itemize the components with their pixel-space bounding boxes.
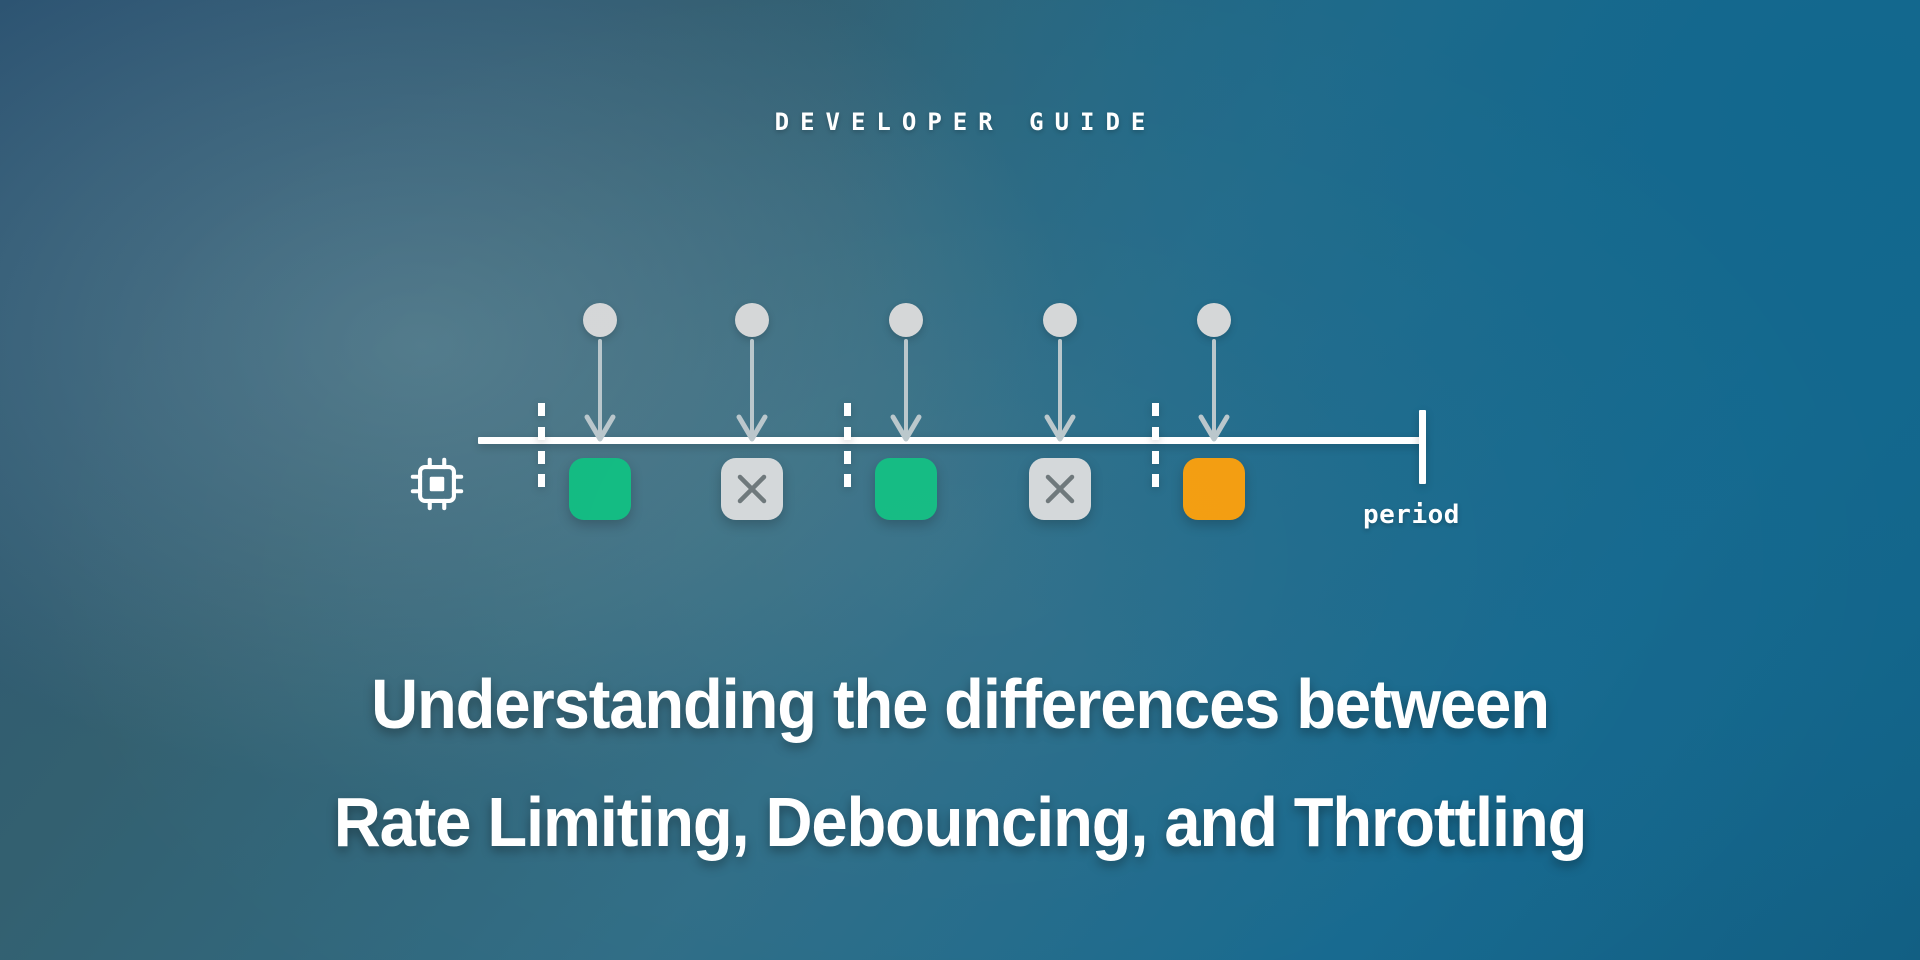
period-boundary-marker (1152, 403, 1159, 487)
x-icon (1040, 469, 1080, 509)
outcome-allowed (569, 458, 631, 520)
down-arrow-icon (891, 341, 921, 446)
outcome-throttled (1183, 458, 1245, 520)
period-end-tick (1419, 410, 1426, 484)
hero-banner: DEVELOPER GUIDE period (0, 0, 1920, 960)
request-dot (735, 303, 769, 337)
request-dot (583, 303, 617, 337)
page-title-line-2: Rate Limiting, Debouncing, and Throttlin… (67, 763, 1853, 881)
period-label: period (1363, 500, 1460, 530)
outcome-blocked (1029, 458, 1091, 520)
period-boundary-marker (538, 403, 545, 487)
request-dot (1043, 303, 1077, 337)
period-boundary-marker (844, 403, 851, 487)
down-arrow-icon (737, 341, 767, 446)
request-dot (889, 303, 923, 337)
down-arrow-icon (585, 341, 615, 446)
page-title-line-1: Understanding the differences between (67, 645, 1853, 763)
timeline-axis (478, 437, 1424, 444)
down-arrow-icon (1045, 341, 1075, 446)
x-icon (732, 469, 772, 509)
outcome-allowed (875, 458, 937, 520)
request-dot (1197, 303, 1231, 337)
outcome-blocked (721, 458, 783, 520)
cpu-chip-icon (408, 455, 466, 513)
page-title: Understanding the differences between Ra… (0, 645, 1920, 881)
down-arrow-icon (1199, 341, 1229, 446)
